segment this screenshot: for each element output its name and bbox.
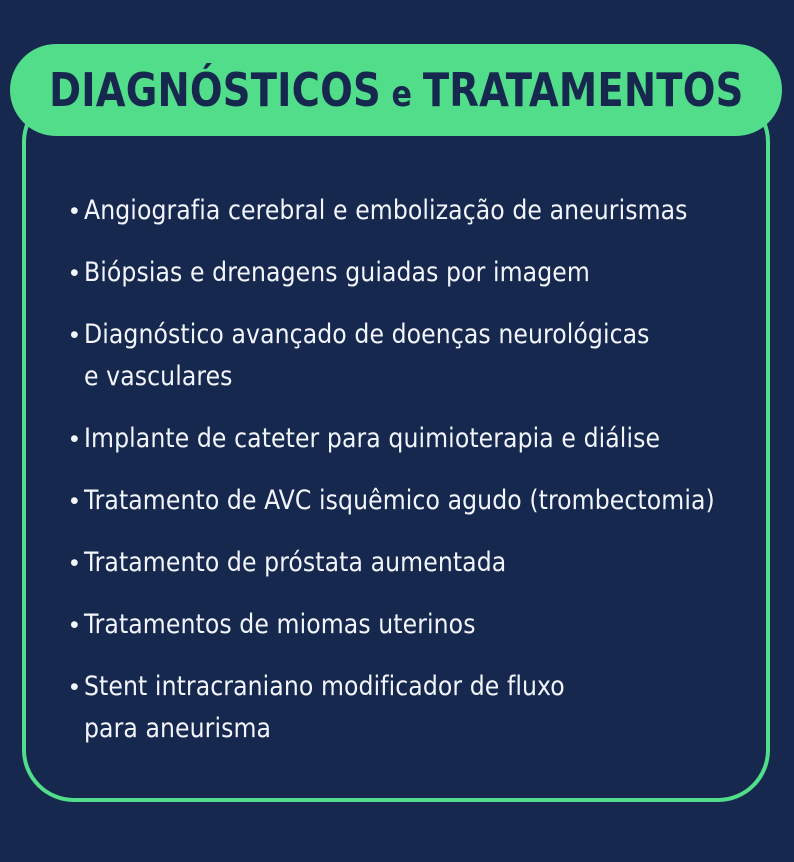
list-item: • Diagnóstico avançado de doenças neurol… [0,314,794,398]
bullet-icon: • [70,418,84,460]
list-item-label: Tratamentos de miomas uterinos [84,604,476,646]
list-item: • Tratamento de próstata aumentada [0,542,794,584]
list-item-label: Angiografia cerebral e embolização de an… [84,190,688,232]
treatments-list: • Angiografia cerebral e embolização de … [0,190,794,770]
list-item-label: Stent intracraniano modificador de fluxo… [84,666,565,750]
list-item: • Implante de cateter para quimioterapia… [0,418,794,460]
bullet-icon: • [70,604,84,646]
list-item: • Angiografia cerebral e embolização de … [0,190,794,232]
page-title-main: DIAGNÓSTICOS [49,63,381,117]
list-item-label: Biópsias e drenagens guiadas por imagem [84,252,590,294]
list-item: • Stent intracraniano modificador de flu… [0,666,794,750]
list-item: • Biópsias e drenagens guiadas por image… [0,252,794,294]
bullet-icon: • [70,480,84,522]
bullet-icon: • [70,314,84,356]
list-item-label: Tratamento de AVC isquêmico agudo (tromb… [84,480,715,522]
bullet-icon: • [70,542,84,584]
list-item-label: Diagnóstico avançado de doenças neurológ… [84,314,650,398]
list-item-label: Implante de cateter para quimioterapia e… [84,418,660,460]
bullet-icon: • [70,190,84,232]
list-item-label: Tratamento de próstata aumentada [84,542,506,584]
bullet-icon: • [70,252,84,294]
page-title-conjunction: e [381,74,423,115]
page-title: DIAGNÓSTICOS e TRATAMENTOS [49,67,743,113]
header-pill: DIAGNÓSTICOS e TRATAMENTOS [10,44,782,136]
list-item: • Tratamento de AVC isquêmico agudo (tro… [0,480,794,522]
page-title-trailing: TRATAMENTOS [423,63,744,117]
bullet-icon: • [70,666,84,708]
list-item: • Tratamentos de miomas uterinos [0,604,794,646]
